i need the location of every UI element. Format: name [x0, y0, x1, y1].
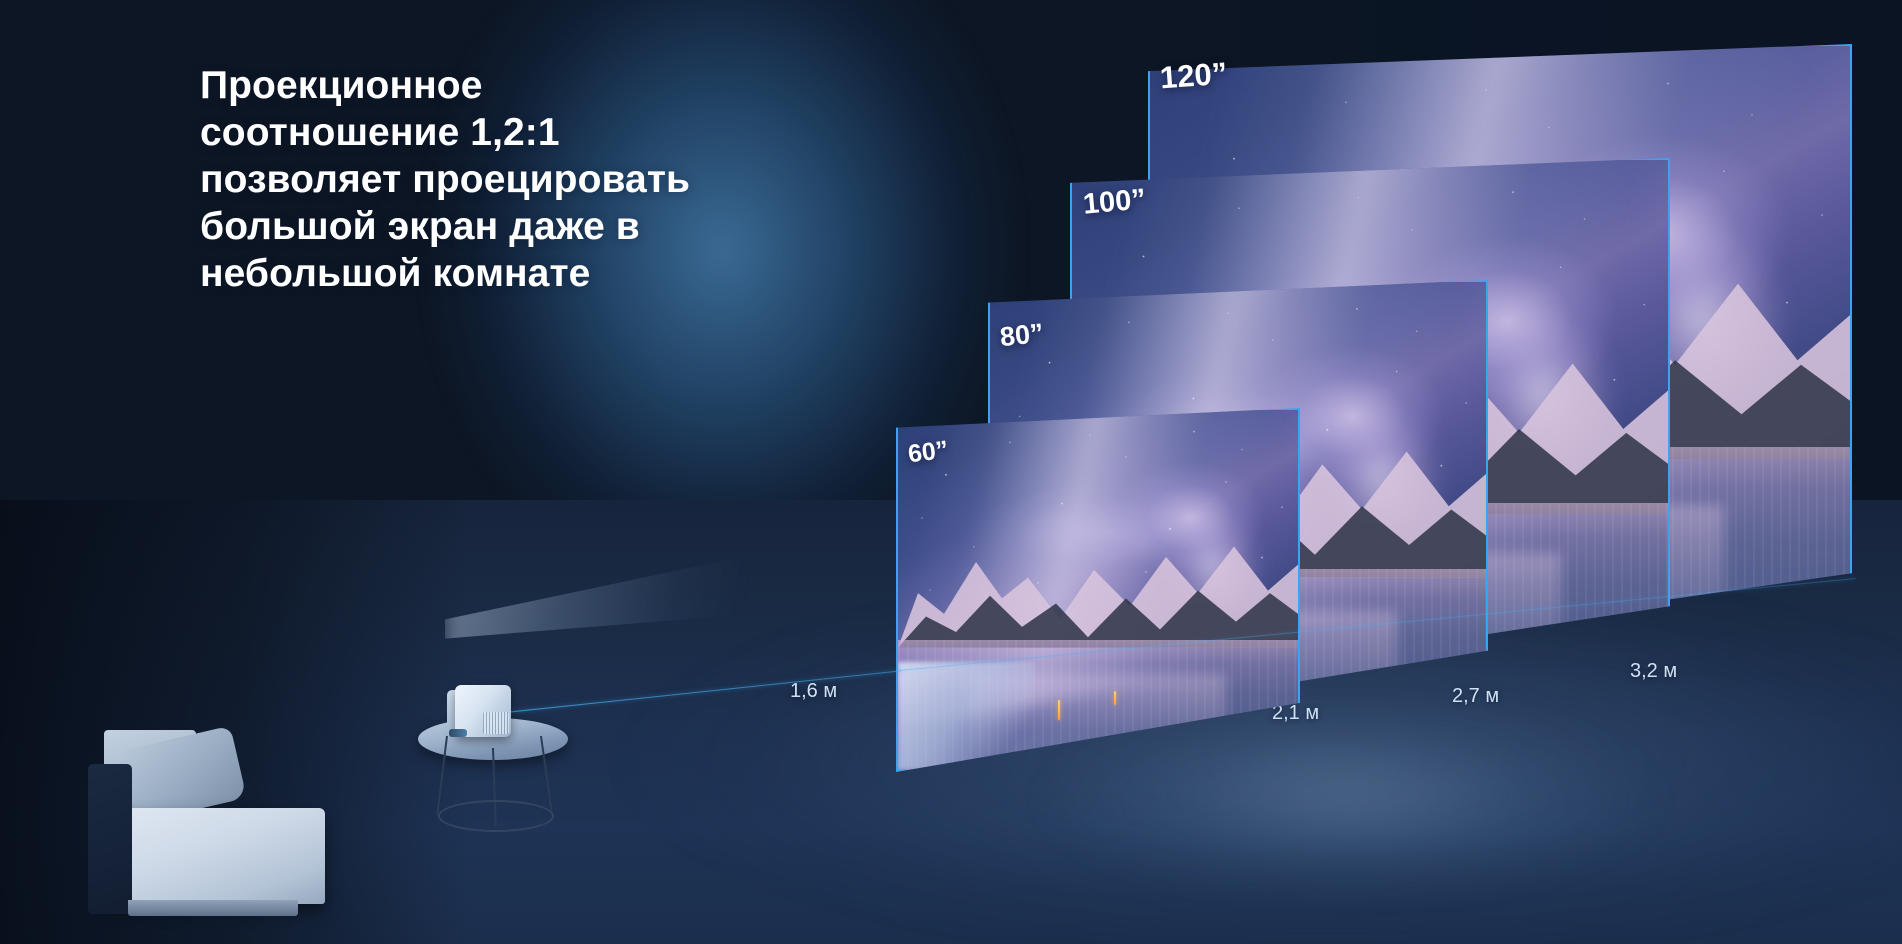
headline-line-2: соотношение 1,2:1: [200, 109, 840, 156]
distance-label-100: 2,7 м: [1452, 685, 1499, 708]
screen-size-label-80: 80”: [998, 318, 1045, 353]
screen-size-label-60: 60”: [906, 436, 950, 470]
projector-vent-grille: [483, 712, 509, 734]
projection-ratio-illustration: Проекционное соотношение 1,2:1 позволяет…: [0, 0, 1902, 944]
armchair-armrest: [88, 764, 132, 914]
armchair-seat: [110, 808, 325, 904]
armchair-base: [128, 900, 298, 916]
screen-size-label-100: 100”: [1082, 183, 1148, 221]
screen-size-label-120: 120”: [1159, 56, 1229, 97]
mountain-silhouette: [898, 518, 1298, 648]
distance-label-60: 1,6 м: [790, 680, 837, 703]
headline-line-4: большой экран даже в: [200, 203, 840, 250]
armchair: [88, 712, 350, 932]
page-title: Проекционное соотношение 1,2:1 позволяет…: [200, 62, 840, 297]
headline-line-3: позволяет проецировать: [200, 156, 840, 203]
mountain-range: [898, 518, 1298, 648]
table-base-ring: [438, 800, 554, 832]
headline-line-5: небольшой комнате: [200, 250, 840, 297]
shoreline-light: [1114, 691, 1116, 705]
shoreline-light: [1058, 700, 1060, 720]
projector-lens: [449, 729, 467, 737]
distance-label-120: 3,2 м: [1630, 660, 1677, 683]
headline-line-1: Проекционное: [200, 62, 840, 109]
